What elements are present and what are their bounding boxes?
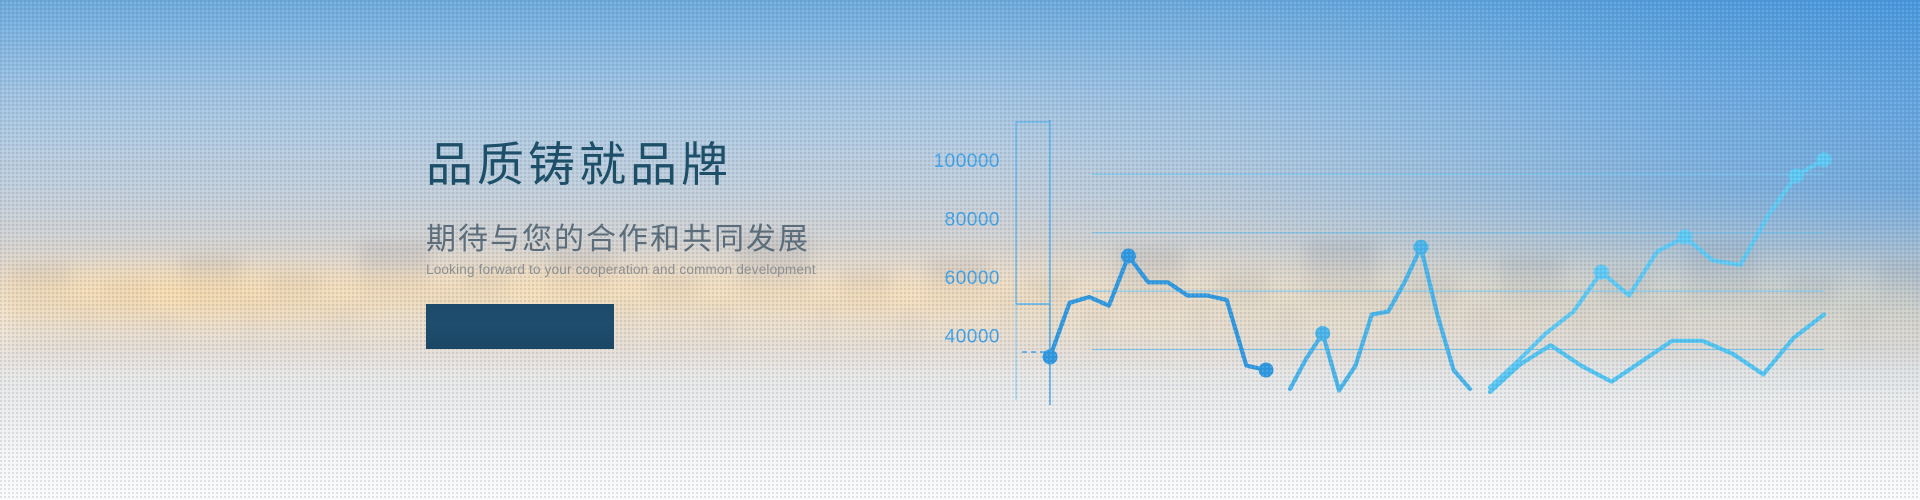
- promo-banner: 400006000080000100000 品质铸就品牌 期待与您的合作和共同发…: [0, 0, 1920, 500]
- banner-copy: 品质铸就品牌 期待与您的合作和共同发展 Looking forward to y…: [426, 140, 1046, 349]
- banner-subtitle: 期待与您的合作和共同发展: [426, 223, 1046, 256]
- page-title: 品质铸就品牌: [426, 140, 1046, 189]
- learn-more-button[interactable]: [426, 304, 614, 349]
- banner-subtitle-english: Looking forward to your cooperation and …: [426, 262, 1046, 278]
